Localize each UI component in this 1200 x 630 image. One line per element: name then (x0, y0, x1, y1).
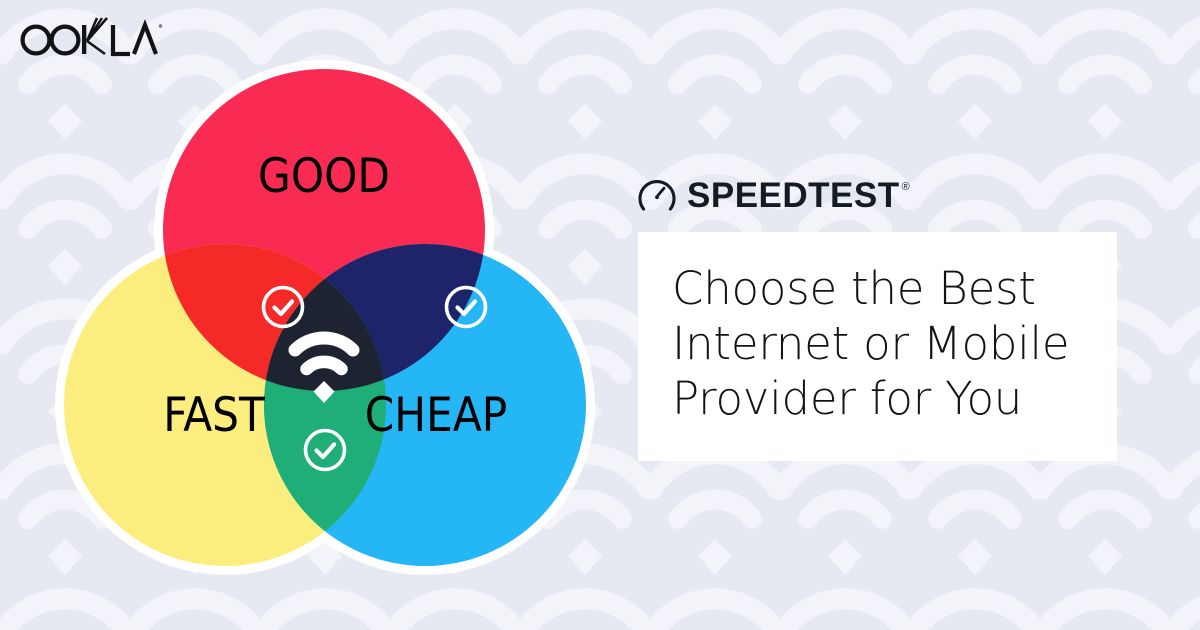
speedometer-icon (638, 176, 676, 214)
poster-canvas: GOOD FAST CHEAP (0, 0, 1200, 630)
venn-label-cheap: CHEAP (365, 388, 507, 443)
speedtest-logo: SPEEDTEST ® (638, 172, 1128, 218)
venn-diagram: GOOD FAST CHEAP (48, 58, 608, 578)
speedtest-wordmark: SPEEDTEST (687, 178, 900, 213)
headline-line-2: Internet or Mobile (672, 317, 1083, 372)
headline-line-1: Choose the Best (672, 262, 1083, 317)
headline-card: Choose the Best Internet or Mobile Provi… (638, 232, 1117, 461)
page-title: Choose the Best Internet or Mobile Provi… (672, 262, 1083, 427)
right-content-column: SPEEDTEST ® Choose the Best Internet or … (638, 172, 1128, 461)
ookla-logo (14, 14, 164, 62)
venn-label-fast: FAST (163, 388, 265, 443)
venn-label-good: GOOD (258, 149, 390, 204)
speedtest-registered-mark: ® (902, 181, 910, 193)
headline-line-3: Provider for You (672, 372, 1083, 427)
registered-mark-dot (159, 24, 162, 27)
